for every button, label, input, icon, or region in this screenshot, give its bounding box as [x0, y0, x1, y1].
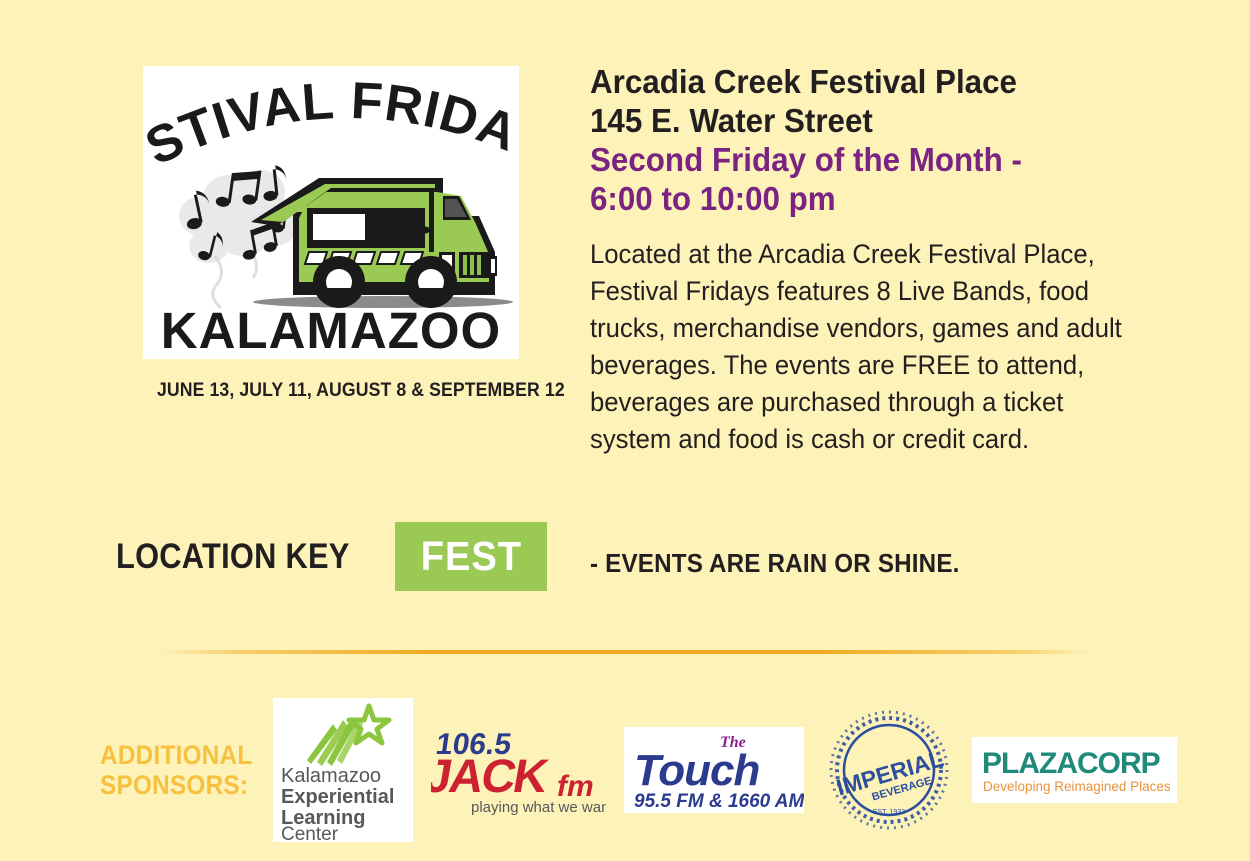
imperial-beverage-logo: IMPERIAL BEVERAGE EST. 1933 — [824, 705, 954, 835]
sponsor-jack-fm: 106.5 JACK fm playing what we want — [431, 724, 606, 816]
imperial-est: EST. 1933 — [873, 809, 905, 816]
event-dates: JUNE 13, JULY 11, AUGUST 8 & SEPTEMBER 1… — [157, 380, 529, 402]
event-venue: Arcadia Creek Festival Place — [590, 62, 1141, 101]
event-schedule-line1: Second Friday of the Month - — [590, 140, 1141, 179]
festival-fridays-flyer: FESTIVAL FRIDAYS — [0, 0, 1250, 861]
event-description: Located at the Arcadia Creek Festival Pl… — [590, 236, 1141, 458]
event-address: 145 E. Water Street — [590, 101, 1141, 140]
festival-fridays-logo-card: FESTIVAL FRIDAYS — [143, 66, 519, 359]
sponsors-label: ADDITIONAL SPONSORS: — [100, 740, 249, 800]
jack-fm-logo: 106.5 JACK fm playing what we want — [431, 724, 606, 816]
kelc-line4: Center — [281, 824, 339, 842]
location-key: LOCATION KEY FEST — [116, 522, 547, 591]
jack-brand: JACK — [431, 750, 552, 803]
event-heading: Arcadia Creek Festival Place 145 E. Wate… — [590, 62, 1141, 218]
kelc-logo: Kalamazoo Experiential Learning Center — [273, 698, 413, 842]
event-schedule-line2: 6:00 to 10:00 pm — [590, 179, 1141, 218]
festival-fridays-logo: FESTIVAL FRIDAYS — [143, 66, 519, 359]
event-details: Arcadia Creek Festival Place 145 E. Wate… — [590, 62, 1170, 458]
sponsors-row: ADDITIONAL SPONSORS: Kalamazoo Experient… — [100, 690, 1180, 850]
plazacorp-tagline: Developing Reimagined Places — [983, 779, 1171, 794]
touch-brand: Touch — [634, 746, 759, 795]
sponsor-kalamazoo-experiential-learning-center: Kalamazoo Experiential Learning Center — [273, 698, 413, 842]
sponsor-the-touch: The Touch 95.5 FM & 1660 AM — [624, 727, 804, 813]
plazacorp-brand: PLAZACORP — [982, 747, 1160, 780]
section-divider — [160, 650, 1090, 654]
touch-frequency: 95.5 FM & 1660 AM — [634, 791, 804, 812]
kelc-line2: Experiential — [281, 786, 394, 808]
kelc-line1: Kalamazoo — [281, 765, 381, 787]
plazacorp-logo: PLAZACORP Developing Reimagined Places — [972, 737, 1177, 803]
sponsors-label-line1: ADDITIONAL — [100, 740, 249, 770]
fest-badge-label: FEST — [421, 536, 522, 577]
sponsor-imperial-beverage: IMPERIAL BEVERAGE EST. 1933 — [824, 705, 954, 835]
the-touch-logo: The Touch 95.5 FM & 1660 AM — [624, 727, 804, 813]
logo-kalamazoo-text: KALAMAZOO — [161, 302, 501, 359]
sponsor-plazacorp: PLAZACORP Developing Reimagined Places — [972, 737, 1177, 803]
rain-or-shine-note: - EVENTS ARE RAIN OR SHINE. — [590, 548, 960, 579]
fest-badge: FEST — [395, 522, 547, 591]
jack-tagline: playing what we want — [471, 799, 606, 816]
sponsors-label-line2: SPONSORS: — [100, 770, 249, 800]
location-key-label: LOCATION KEY — [116, 539, 350, 574]
